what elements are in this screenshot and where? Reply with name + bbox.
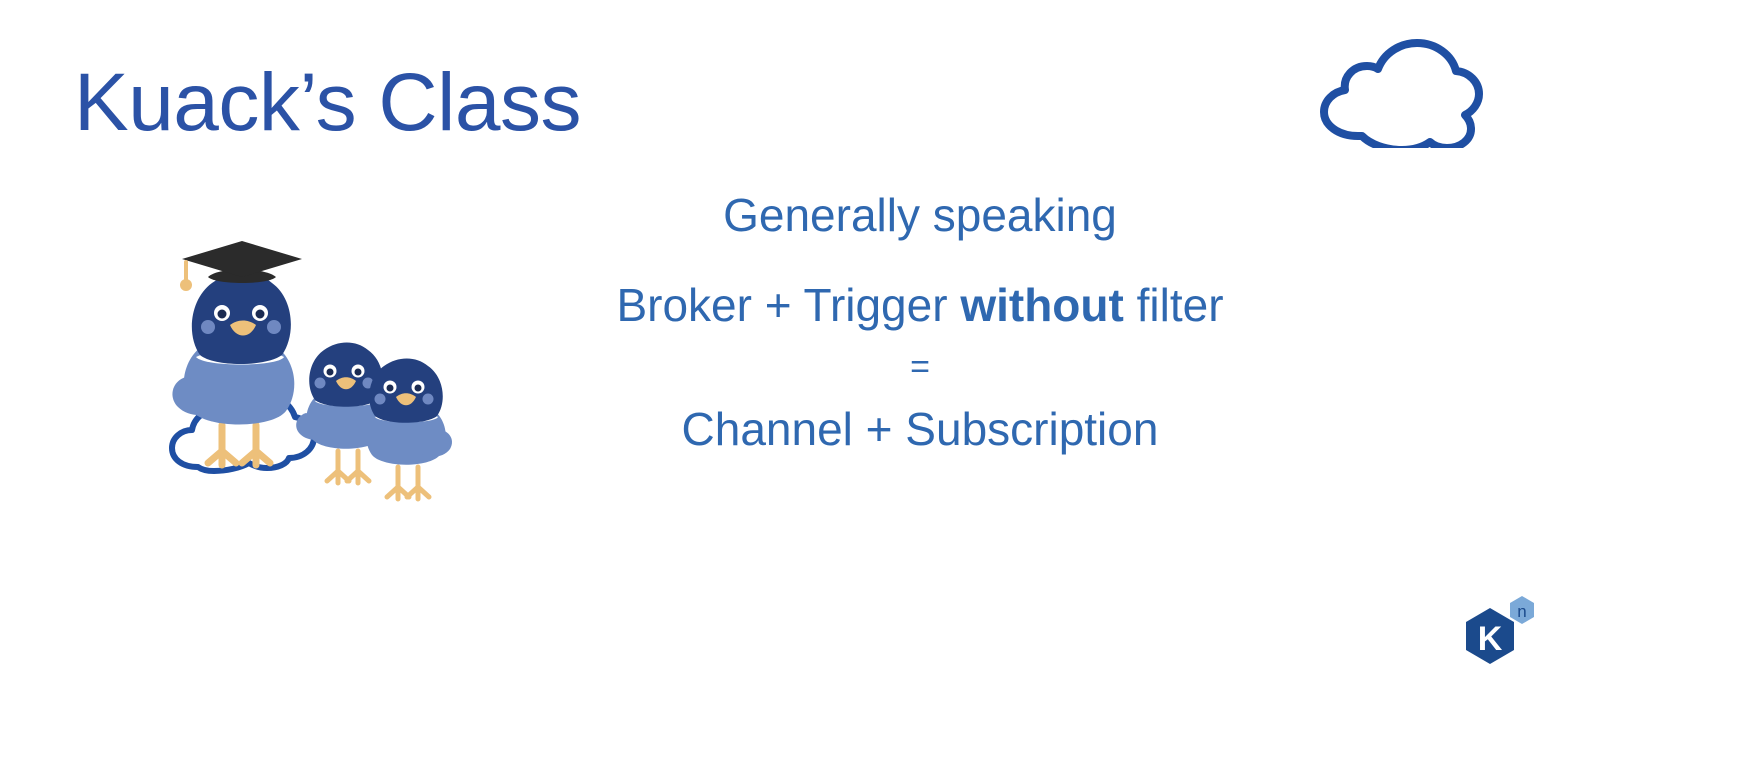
equals-sign: =: [520, 350, 1320, 384]
knative-logo: K n: [1452, 592, 1542, 670]
equation-suffix: filter: [1124, 279, 1224, 331]
slide-canvas: Kuack’s Class: [0, 0, 1742, 762]
equation-prefix: Broker + Trigger: [616, 279, 960, 331]
birds-graduation-illustration: [160, 215, 510, 520]
slide-body-text: Generally speaking Broker + Trigger with…: [520, 192, 1320, 452]
knative-logo-superscript: n: [1517, 602, 1526, 621]
page-title: Kuack’s Class: [74, 62, 581, 144]
cloud-icon: [1300, 28, 1500, 148]
chick-bird-one: [296, 343, 386, 484]
equation-emphasis: without: [960, 279, 1124, 331]
body-line-intro: Generally speaking: [520, 192, 1320, 238]
body-line-equation: Broker + Trigger without filter: [520, 282, 1320, 328]
chick-bird-two: [366, 359, 452, 500]
knative-logo-letter: K: [1478, 620, 1503, 658]
body-line-result: Channel + Subscription: [520, 406, 1320, 452]
